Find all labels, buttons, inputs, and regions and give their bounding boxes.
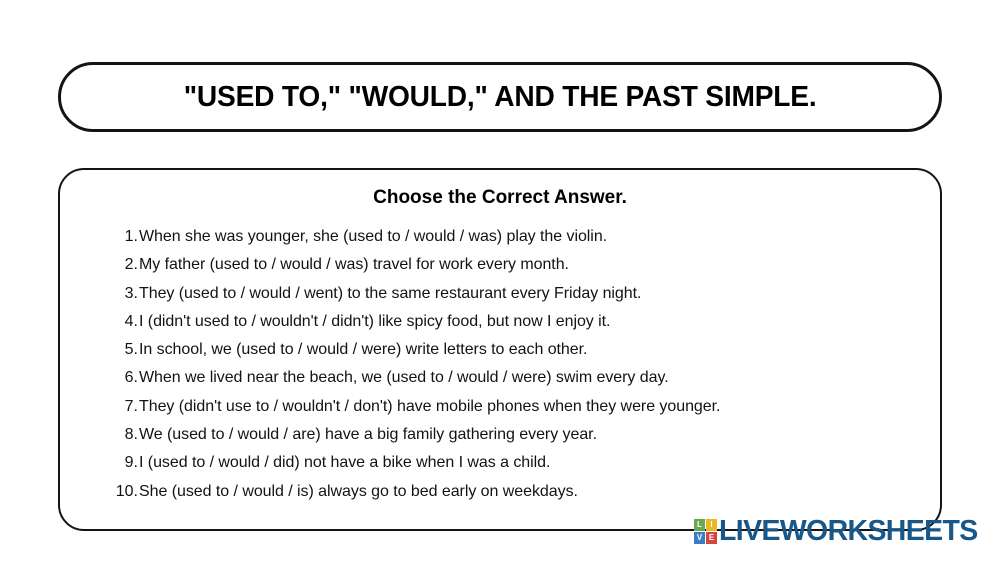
question-number: 4. xyxy=(108,313,138,331)
logo-block-v: V xyxy=(694,532,705,544)
question-number: 7. xyxy=(108,398,138,416)
worksheet-page: "USED TO," "WOULD," AND THE PAST SIMPLE.… xyxy=(0,0,999,562)
question-number: 8. xyxy=(108,426,138,444)
question-number: 5. xyxy=(108,341,138,359)
instruction-heading: Choose the Correct Answer. xyxy=(60,187,940,209)
question-number: 2. xyxy=(108,256,138,274)
list-item[interactable]: 9. I (used to / would / did) not have a … xyxy=(108,454,912,482)
question-number: 10. xyxy=(108,483,138,501)
question-text: They (used to / would / went) to the sam… xyxy=(138,285,641,303)
liveworksheets-logo-icon: L I V E xyxy=(694,519,717,544)
question-text: In school, we (used to / would / were) w… xyxy=(138,341,587,359)
question-text: They (didn't use to / wouldn't / don't) … xyxy=(138,398,720,416)
list-item[interactable]: 5. In school, we (used to / would / were… xyxy=(108,341,912,369)
list-item[interactable]: 3. They (used to / would / went) to the … xyxy=(108,285,912,313)
question-text: We (used to / would / are) have a big fa… xyxy=(138,426,597,444)
question-text: I (used to / would / did) not have a bik… xyxy=(138,454,550,472)
logo-block-i: I xyxy=(706,519,717,531)
logo-block-e: E xyxy=(706,532,717,544)
list-item[interactable]: 8. We (used to / would / are) have a big… xyxy=(108,426,912,454)
question-list: 1. When she was younger, she (used to / … xyxy=(108,228,912,511)
question-number: 6. xyxy=(108,369,138,387)
page-title: "USED TO," "WOULD," AND THE PAST SIMPLE. xyxy=(184,81,817,114)
question-text: I (didn't used to / wouldn't / didn't) l… xyxy=(138,313,610,331)
question-number: 1. xyxy=(108,228,138,246)
list-item[interactable]: 6. When we lived near the beach, we (use… xyxy=(108,369,912,397)
list-item[interactable]: 2. My father (used to / would / was) tra… xyxy=(108,256,912,284)
question-number: 9. xyxy=(108,454,138,472)
logo-wordmark: LIVEWORKSHEETS xyxy=(719,515,978,548)
question-text: When she was younger, she (used to / wou… xyxy=(138,228,607,246)
question-number: 3. xyxy=(108,285,138,303)
question-text: She (used to / would / is) always go to … xyxy=(138,483,578,501)
worksheet-body-box: Choose the Correct Answer. 1. When she w… xyxy=(58,168,942,531)
list-item[interactable]: 10. She (used to / would / is) always go… xyxy=(108,483,912,511)
list-item[interactable]: 4. I (didn't used to / wouldn't / didn't… xyxy=(108,313,912,341)
liveworksheets-logo[interactable]: L I V E LIVEWORKSHEETS xyxy=(694,514,983,548)
worksheet-title-box: "USED TO," "WOULD," AND THE PAST SIMPLE. xyxy=(58,62,942,132)
question-text: When we lived near the beach, we (used t… xyxy=(138,369,669,387)
list-item[interactable]: 7. They (didn't use to / wouldn't / don'… xyxy=(108,398,912,426)
logo-block-l: L xyxy=(694,519,705,531)
list-item[interactable]: 1. When she was younger, she (used to / … xyxy=(108,228,912,256)
question-text: My father (used to / would / was) travel… xyxy=(138,256,569,274)
